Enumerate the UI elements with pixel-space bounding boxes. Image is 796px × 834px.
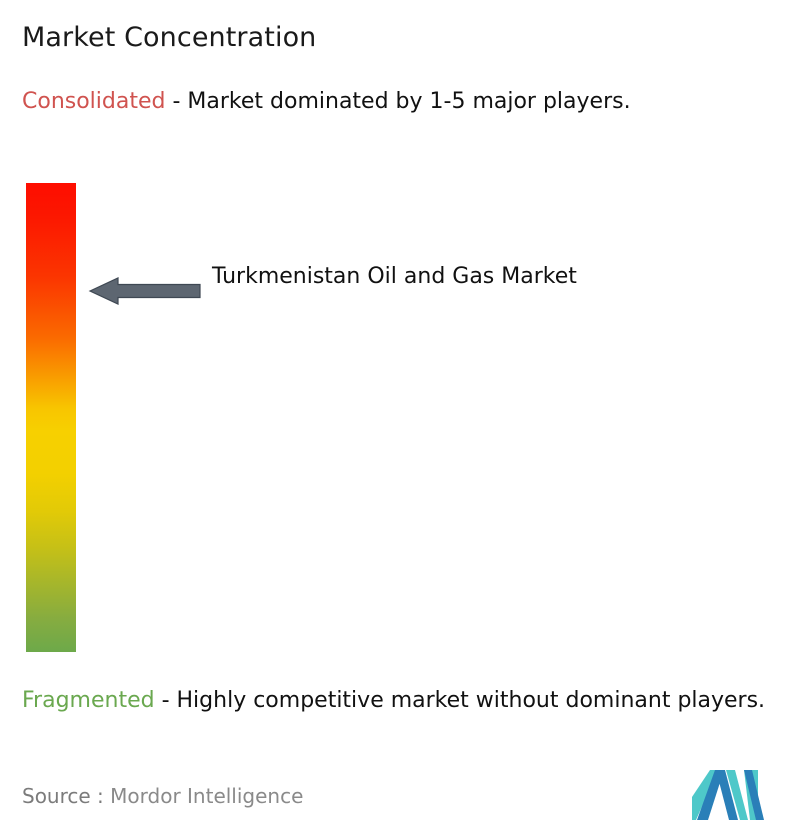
- source-label: Source :: [22, 784, 104, 808]
- market-concentration-chart: Market Concentration Consolidated - Mark…: [0, 0, 796, 834]
- legend-term-fragmented: Fragmented: [22, 688, 155, 713]
- source-attribution: Source : Mordor Intelligence: [22, 783, 303, 809]
- page-title: Market Concentration: [22, 21, 316, 55]
- legend-fragmented: Fragmented - Highly competitive market w…: [22, 685, 787, 716]
- source-value: Mordor Intelligence: [110, 784, 303, 808]
- callout-label: Turkmenistan Oil and Gas Market: [212, 259, 632, 294]
- mordor-intelligence-logo-icon: [692, 770, 764, 820]
- callout-arrow-icon: [88, 274, 202, 308]
- legend-description-consolidated: - Market dominated by 1-5 major players.: [165, 89, 630, 114]
- legend-description-fragmented: - Highly competitive market without domi…: [155, 688, 765, 713]
- concentration-gradient-bar: [26, 183, 76, 652]
- legend-consolidated: Consolidated - Market dominated by 1-5 m…: [22, 86, 762, 117]
- legend-term-consolidated: Consolidated: [22, 89, 165, 114]
